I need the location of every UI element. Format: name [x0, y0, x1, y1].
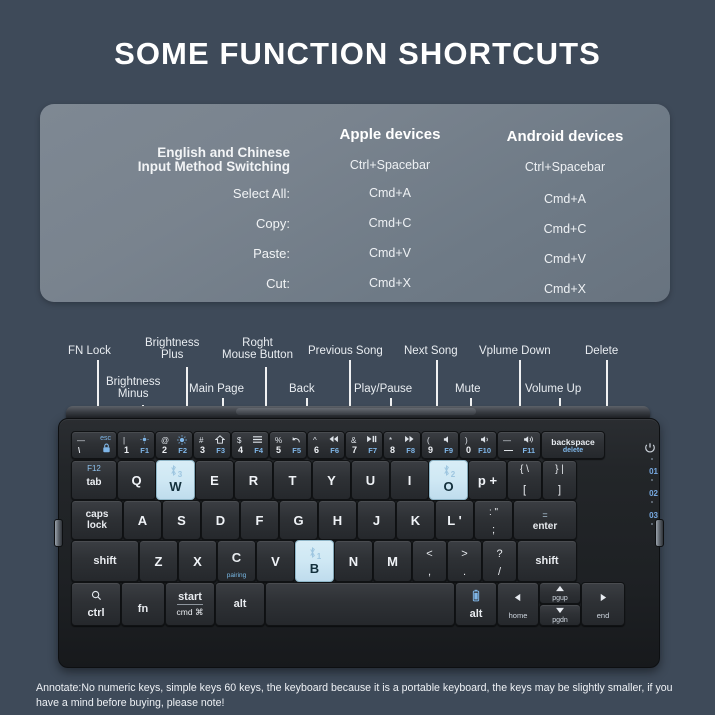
key-bracket-right-label: ] [543, 484, 576, 496]
cell-android-input-method: Ctrl+Spacebar [480, 160, 650, 174]
volume-max-icon [523, 435, 535, 446]
key-t-label: T [289, 473, 297, 488]
side-indicator-strip: 01 02 03 [637, 431, 659, 655]
key-i[interactable]: I [390, 460, 429, 500]
battery-icon [456, 589, 496, 605]
key-s[interactable]: S [162, 500, 201, 540]
play-pause-icon [366, 435, 377, 445]
cell-android-cut: Cmd+X [480, 282, 650, 296]
key-f5-label: F5 [292, 446, 301, 455]
key-bracket-right[interactable]: } | ] [542, 460, 577, 500]
key-minus-symbol: — [503, 436, 511, 445]
key-esc-tl: — [77, 436, 85, 445]
key-3-f3[interactable]: # 3 F3 [193, 431, 231, 459]
key-7-f7[interactable]: & 7 F7 [345, 431, 383, 459]
row-label-cut: Cut: [60, 276, 290, 291]
key-f2-label: F2 [178, 446, 187, 455]
key-1-symbol: | [123, 436, 125, 445]
power-led-dot [651, 458, 653, 460]
key-arrow-right[interactable]: end [581, 582, 625, 626]
key-start-label: start [177, 591, 204, 605]
key-comma-label: , [413, 566, 446, 578]
cell-apple-paste: Cmd+V [310, 246, 470, 260]
key-t[interactable]: T [273, 460, 312, 500]
key-w[interactable]: 3 W [156, 460, 195, 500]
power-icon[interactable] [644, 441, 656, 459]
key-f3-label: F3 [216, 446, 225, 455]
key-4-f4[interactable]: $ 4 F4 [231, 431, 269, 459]
key-y[interactable]: Y [312, 460, 351, 500]
key-j-label: J [373, 513, 380, 528]
key-alt-right-label: alt [456, 608, 496, 620]
key-3-label: 3 [200, 445, 205, 455]
key-a[interactable]: A [123, 500, 162, 540]
key-semicolon[interactable]: : " ; [474, 500, 513, 540]
cell-android-paste: Cmd+V [480, 252, 650, 266]
key-f11-label: F11 [522, 446, 535, 455]
key-0-symbol: ) [465, 436, 468, 445]
key-esc-tr: esc [100, 435, 111, 442]
annotation-brightness-plus: Brightness Plus [145, 337, 199, 361]
key-n-label: N [349, 554, 358, 569]
key-q[interactable]: Q [117, 460, 156, 500]
key-z-label: Z [155, 554, 163, 569]
up-arrow-icon [540, 584, 580, 595]
key-semicolon-label: ; [475, 524, 512, 536]
key-esc-bl: \ [78, 446, 80, 455]
key-o[interactable]: 2 O [429, 460, 468, 500]
key-period-label: . [448, 566, 481, 578]
annotation-volume-up: Volume Up [525, 383, 581, 395]
keyboard: — esc \ | 1 F1 @ [58, 406, 658, 666]
key-6-f6[interactable]: ^ 6 F6 [307, 431, 345, 459]
key-8-symbol: * [389, 436, 392, 445]
key-v[interactable]: V [256, 540, 295, 582]
key-x[interactable]: X [178, 540, 217, 582]
key-b[interactable]: 1 B [295, 540, 334, 582]
key-end-label: end [582, 611, 624, 620]
key-9-f9[interactable]: ( 9 F9 [421, 431, 459, 459]
key-4-label: 4 [238, 445, 243, 455]
key-e[interactable]: E [195, 460, 234, 500]
key-a-label: A [138, 513, 147, 528]
page-title: SOME FUNCTION SHORTCUTS [0, 36, 715, 72]
key-9-symbol: ( [427, 436, 430, 445]
search-icon [72, 590, 120, 604]
key-e-label: E [210, 473, 219, 488]
key-minus-f11[interactable]: — — F11 [497, 431, 541, 459]
key-backspace[interactable]: backspace delete [541, 431, 605, 459]
cell-android-select-all: Cmd+A [480, 192, 650, 206]
key-0-f10[interactable]: ) 0 F10 [459, 431, 497, 459]
key-f[interactable]: F [240, 500, 279, 540]
key-h[interactable]: H [318, 500, 357, 540]
annotation-next-song: Next Song [404, 345, 458, 357]
key-spacebar[interactable] [265, 582, 455, 626]
key-5-symbol: % [275, 436, 282, 445]
key-minus-label: — [504, 445, 513, 455]
right-arrow-icon [582, 593, 624, 605]
key-i-label: I [408, 473, 412, 488]
annotation-brightness-minus: Brightness Minus [106, 376, 160, 400]
cell-apple-cut: Cmd+X [310, 276, 470, 290]
key-b-label: B [296, 561, 333, 576]
key-d-label: D [216, 513, 225, 528]
annotation-delete: Delete [585, 345, 618, 357]
lock-icon [102, 443, 111, 455]
shortcut-panel: Apple devices Android devices English an… [40, 104, 670, 302]
key-shift-left[interactable]: shift [71, 540, 139, 582]
annotation-main-page: Main Page [189, 383, 244, 395]
key-arrow-up[interactable]: pgup [539, 582, 581, 604]
key-7-label: 7 [352, 445, 357, 455]
key-6-symbol: ^ [313, 436, 317, 445]
key-3-symbol: # [199, 436, 203, 445]
key-c-pairing-label: pairing [218, 572, 255, 579]
hinge-pin-left [54, 519, 63, 547]
key-0-label: 0 [466, 445, 471, 455]
key-5-f5[interactable]: % 5 F5 [269, 431, 307, 459]
key-l[interactable]: L ' [435, 500, 474, 540]
key-bracket-left-label: [ [508, 484, 541, 496]
key-c[interactable]: C pairing [217, 540, 256, 582]
key-bracket-left[interactable]: { \ [ [507, 460, 542, 500]
key-l-label: L ' [447, 513, 461, 528]
key-slash[interactable]: ? / [482, 540, 517, 582]
annotation-play-pause: Play/Pause [354, 383, 412, 395]
key-enter-label: enter [514, 521, 576, 532]
key-m-label: M [387, 554, 398, 569]
key-x-label: X [193, 554, 202, 569]
key-f8-label: F8 [406, 446, 415, 455]
key-s-label: S [177, 513, 186, 528]
annotation-mute: Mute [455, 383, 481, 395]
key-d[interactable]: D [201, 500, 240, 540]
key-alt-left-label: alt [234, 598, 247, 610]
down-arrow-icon [540, 606, 580, 617]
bluetooth-2-icon: 2 [430, 464, 467, 479]
key-r-label: R [249, 473, 258, 488]
key-w-label: W [157, 479, 194, 494]
next-track-icon [404, 435, 415, 445]
brightness-down-icon [140, 435, 149, 446]
volume-up-icon [480, 435, 491, 446]
key-shift-right-label: shift [535, 555, 558, 567]
key-cmd-label: cmd ⌘ [177, 605, 204, 618]
home-icon [215, 435, 225, 446]
keyboard-body: — esc \ | 1 F1 @ [58, 418, 660, 668]
key-pgup-label: pgup [540, 595, 580, 602]
column-header-android: Android devices [480, 128, 650, 145]
key-tab-label: tab [72, 477, 116, 488]
annotation-back: Back [289, 383, 315, 395]
key-4-symbol: $ [237, 436, 241, 445]
column-header-apple: Apple devices [310, 126, 470, 143]
key-f-label: F [256, 513, 264, 528]
annotation-previous-song: Previous Song [308, 345, 383, 357]
key-start-cmd[interactable]: start cmd ⌘ [165, 582, 215, 626]
key-pgdn-label: pgdn [540, 617, 580, 624]
key-f6-label: F6 [330, 446, 339, 455]
footer-note: Annotate:No numeric keys, simple keys 60… [36, 681, 696, 711]
left-arrow-icon [498, 593, 538, 605]
key-bracket-left-shifted: { \ [508, 464, 541, 475]
key-q-label: Q [131, 473, 141, 488]
shortcuts-infographic: SOME FUNCTION SHORTCUTS Apple devices An… [0, 0, 715, 715]
key-k-label: K [411, 513, 420, 528]
key-8-f8[interactable]: * 8 F8 [383, 431, 421, 459]
key-1-label: 1 [124, 445, 129, 455]
key-arrow-left[interactable]: home [497, 582, 539, 626]
key-p[interactable]: p + [468, 460, 507, 500]
key-arrow-down[interactable]: pgdn [539, 604, 581, 626]
key-shift-left-label: shift [93, 555, 116, 567]
key-slash-label: / [483, 566, 516, 578]
key-z[interactable]: Z [139, 540, 178, 582]
key-o-label: O [430, 479, 467, 494]
key-bracket-right-shifted: } | [543, 464, 576, 475]
key-c-label: C [218, 550, 255, 565]
key-deck: — esc \ | 1 F1 @ [71, 431, 647, 655]
mute-icon [443, 435, 453, 446]
row-label-input-method: English and Chinese Input Method Switchi… [60, 146, 290, 174]
led-01-dot [651, 479, 653, 481]
key-2-f2[interactable]: @ 2 F2 [155, 431, 193, 459]
cell-apple-input-method: Ctrl+Spacebar [310, 158, 470, 172]
key-tab-f12: F12 [72, 464, 116, 473]
key-y-label: Y [327, 473, 336, 488]
key-shift-right[interactable]: shift [517, 540, 577, 582]
annotation-right-mouse-button: Roght Mouse Button [222, 337, 293, 361]
row-label-select-all: Select All: [60, 186, 290, 201]
menu-icon [252, 435, 263, 446]
key-f1-label: F1 [140, 446, 149, 455]
key-caps-lock[interactable]: caps lock [71, 500, 123, 540]
key-semicolon-shifted: : " [475, 507, 512, 518]
led-02-dot [651, 501, 653, 503]
key-9-label: 9 [428, 445, 433, 455]
key-8-label: 8 [390, 445, 395, 455]
key-v-label: V [271, 554, 280, 569]
bluetooth-1-icon: 1 [296, 546, 333, 561]
key-2-symbol: @ [161, 436, 169, 445]
key-ctrl-label: ctrl [72, 607, 120, 619]
key-alt-left[interactable]: alt [215, 582, 265, 626]
annotation-volume-down: Vplume Down [479, 345, 551, 357]
key-j[interactable]: J [357, 500, 396, 540]
key-f9-label: F9 [444, 446, 453, 455]
key-period-shifted: > [448, 548, 481, 560]
key-delete-label: delete [542, 447, 604, 454]
key-5-label: 5 [276, 445, 281, 455]
key-home-label: home [498, 611, 538, 620]
key-r[interactable]: R [234, 460, 273, 500]
key-caps-line2: lock [86, 520, 109, 531]
key-caps-line1: caps [86, 509, 109, 520]
key-6-label: 6 [314, 445, 319, 455]
annotation-fn-lock: FN Lock [68, 345, 111, 357]
key-comma-shifted: < [413, 548, 446, 560]
key-u[interactable]: U [351, 460, 390, 500]
key-n[interactable]: N [334, 540, 373, 582]
key-h-label: H [333, 513, 342, 528]
key-g[interactable]: G [279, 500, 318, 540]
key-fn[interactable]: fn [121, 582, 165, 626]
key-slash-shifted: ? [483, 548, 516, 560]
led-01: 01 [649, 467, 658, 476]
led-02: 02 [649, 489, 658, 498]
prev-track-icon [328, 435, 339, 445]
key-ctrl[interactable]: ctrl [71, 582, 121, 626]
key-1-f1[interactable]: | 1 F1 [117, 431, 155, 459]
key-u-label: U [366, 473, 375, 488]
key-comma[interactable]: < , [412, 540, 447, 582]
key-enter[interactable]: = enter [513, 500, 577, 540]
key-m[interactable]: M [373, 540, 412, 582]
bluetooth-3-icon: 3 [157, 464, 194, 479]
cell-android-copy: Cmd+C [480, 222, 650, 236]
key-p-label: p + [478, 473, 497, 488]
key-alt-right[interactable]: alt [455, 582, 497, 626]
row-label-copy: Copy: [60, 216, 290, 231]
key-enter-equals: = [514, 510, 576, 520]
key-2-label: 2 [162, 445, 167, 455]
led-03: 03 [649, 511, 658, 520]
key-backspace-label: backspace [542, 437, 604, 447]
key-k[interactable]: K [396, 500, 435, 540]
key-f7-label: F7 [368, 446, 377, 455]
key-fn-label: fn [138, 603, 148, 615]
key-7-symbol: & [351, 436, 356, 445]
key-tab[interactable]: F12 tab [71, 460, 117, 500]
led-03-dot [651, 523, 653, 525]
cell-apple-copy: Cmd+C [310, 216, 470, 230]
key-esc[interactable]: — esc \ [71, 431, 117, 459]
key-g-label: G [293, 513, 303, 528]
row-label-paste: Paste: [60, 246, 290, 261]
key-period[interactable]: > . [447, 540, 482, 582]
key-f4-label: F4 [254, 446, 263, 455]
back-icon [291, 435, 301, 446]
cell-apple-select-all: Cmd+A [310, 186, 470, 200]
key-f10-label: F10 [478, 446, 491, 455]
